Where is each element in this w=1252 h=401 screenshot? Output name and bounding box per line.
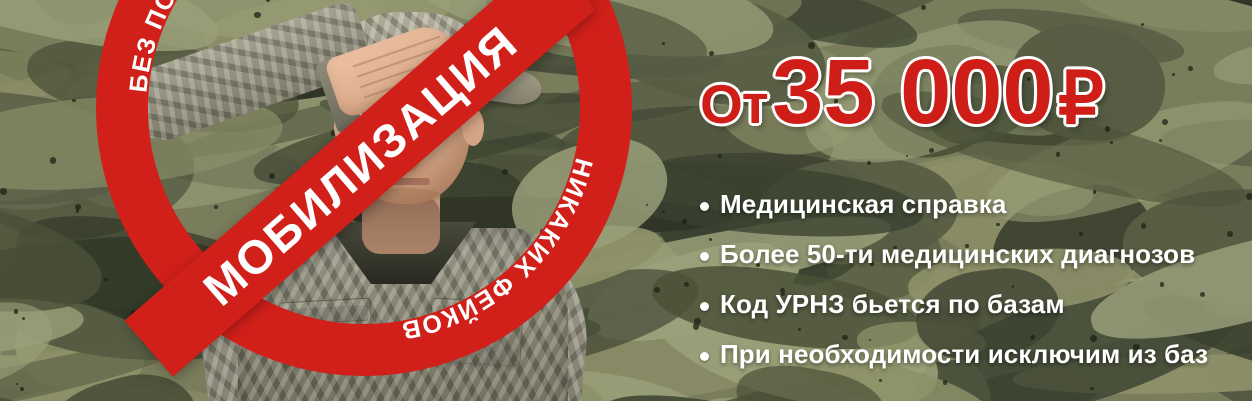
price-prefix: От [700,73,768,135]
feature-item-label: Более 50-ти медицинских диагнозов [720,240,1195,269]
feature-item-label: Медицинская справка [720,190,1006,219]
ring-text-top: БЕЗ ПОСЕЩЕНИЙ • БЫСТРО [124,0,435,94]
bullet-dot-icon [700,202,709,211]
bullet-dot-icon [700,302,709,311]
bullet-dot-icon [700,352,709,361]
price-currency: ₽ [1058,59,1104,139]
price-headline: От 35 000 ₽ [700,46,1104,138]
feature-list: Медицинская справкаБолее 50-ти медицинск… [700,190,1252,390]
feature-item: При необходимости исключим из баз [700,340,1252,369]
promo-banner: БЕЗ ПОСЕЩЕНИЙ • БЫСТРО НИКАКИХ ФЕЙКОВ МО… [0,0,1252,401]
feature-item-label: Код УРНЗ бьется по базам [720,290,1065,319]
price-amount: 35 000 [772,41,1053,143]
feature-item: Код УРНЗ бьется по базам [700,290,1252,319]
feature-item: Медицинская справка [700,190,1252,219]
feature-item: Более 50-ти медицинских диагнозов [700,240,1252,269]
bullet-dot-icon [700,252,709,261]
feature-item-label: При необходимости исключим из баз [720,340,1208,369]
offer-content: От 35 000 ₽ Медицинская справкаБолее 50-… [692,0,1252,401]
